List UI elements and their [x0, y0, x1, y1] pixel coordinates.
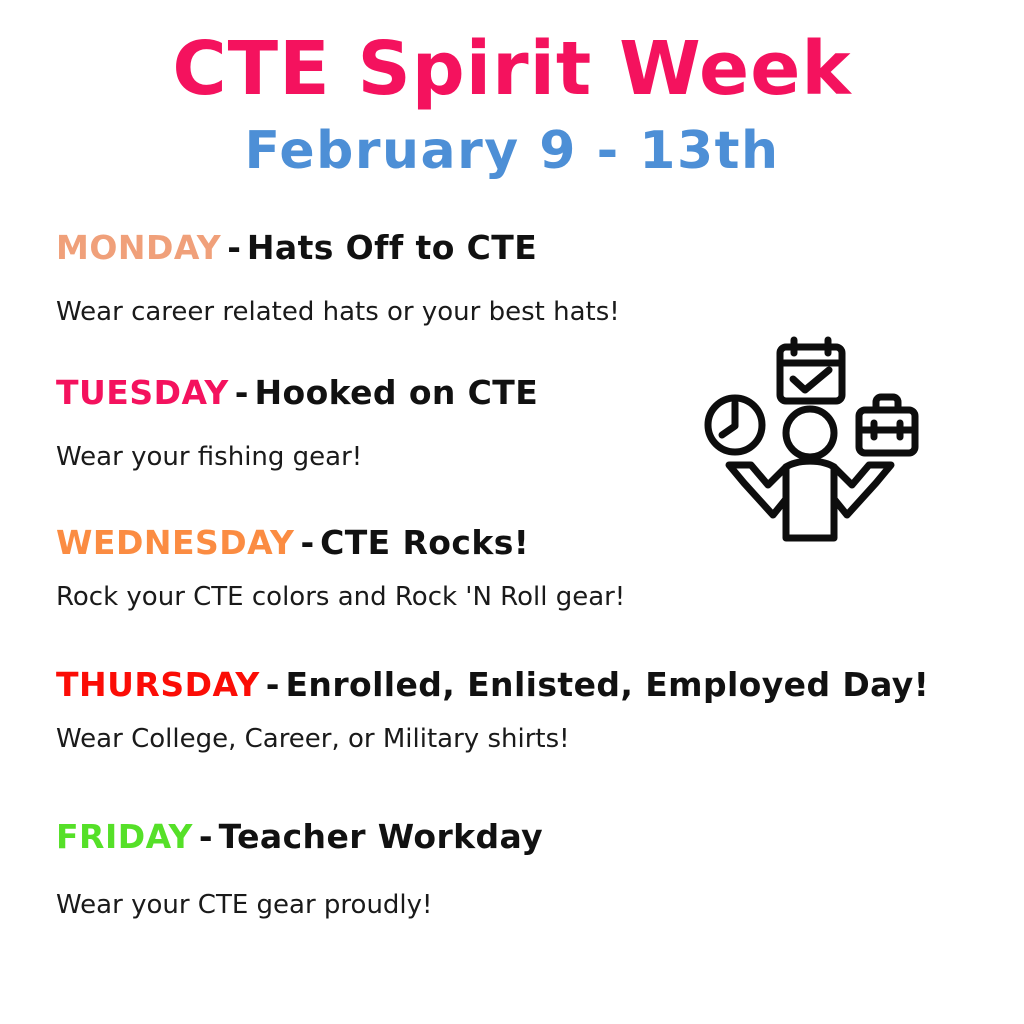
calendar-check-icon: [780, 340, 842, 401]
day-separator: -: [260, 665, 286, 704]
day-block-monday: MONDAY-Hats Off to CTE Wear career relat…: [56, 228, 936, 328]
day-theme-tuesday: Hooked on CTE: [255, 373, 539, 412]
day-detail-friday: Wear your CTE gear proudly!: [56, 889, 936, 921]
day-label-tuesday: TUESDAY: [56, 373, 229, 412]
day-label-wednesday: WEDNESDAY: [56, 523, 294, 562]
day-headline: MONDAY-Hats Off to CTE: [56, 228, 936, 268]
day-label-thursday: THURSDAY: [56, 665, 260, 704]
clock-icon: [708, 398, 762, 452]
poster-header: CTE Spirit Week February 9 - 13th: [0, 28, 1024, 182]
career-choices-illustration: [694, 331, 926, 557]
day-detail-monday: Wear career related hats or your best ha…: [56, 296, 936, 328]
spirit-week-poster: CTE Spirit Week February 9 - 13th MONDAY…: [0, 0, 1024, 1024]
day-detail-thursday: Wear College, Career, or Military shirts…: [56, 723, 936, 755]
day-separator: -: [294, 523, 320, 562]
page-subtitle-dates: February 9 - 13th: [0, 120, 1024, 182]
day-block-thursday: THURSDAY-Enrolled, Enlisted, Employed Da…: [56, 613, 936, 755]
day-separator: -: [229, 373, 255, 412]
day-detail-wednesday: Rock your CTE colors and Rock 'N Roll ge…: [56, 581, 936, 613]
briefcase-icon: [859, 397, 915, 453]
day-headline: FRIDAY-Teacher Workday: [56, 817, 936, 857]
day-theme-thursday: Enrolled, Enlisted, Employed Day!: [285, 665, 929, 704]
day-block-friday: FRIDAY-Teacher Workday Wear your CTE gea…: [56, 755, 936, 921]
day-headline: THURSDAY-Enrolled, Enlisted, Employed Da…: [56, 665, 936, 705]
day-separator: -: [193, 817, 219, 856]
page-title: CTE Spirit Week: [0, 28, 1024, 110]
day-theme-friday: Teacher Workday: [219, 817, 543, 856]
day-label-monday: MONDAY: [56, 228, 221, 267]
day-theme-wednesday: CTE Rocks!: [320, 523, 529, 562]
day-theme-monday: Hats Off to CTE: [247, 228, 537, 267]
day-separator: -: [221, 228, 247, 267]
day-label-friday: FRIDAY: [56, 817, 193, 856]
